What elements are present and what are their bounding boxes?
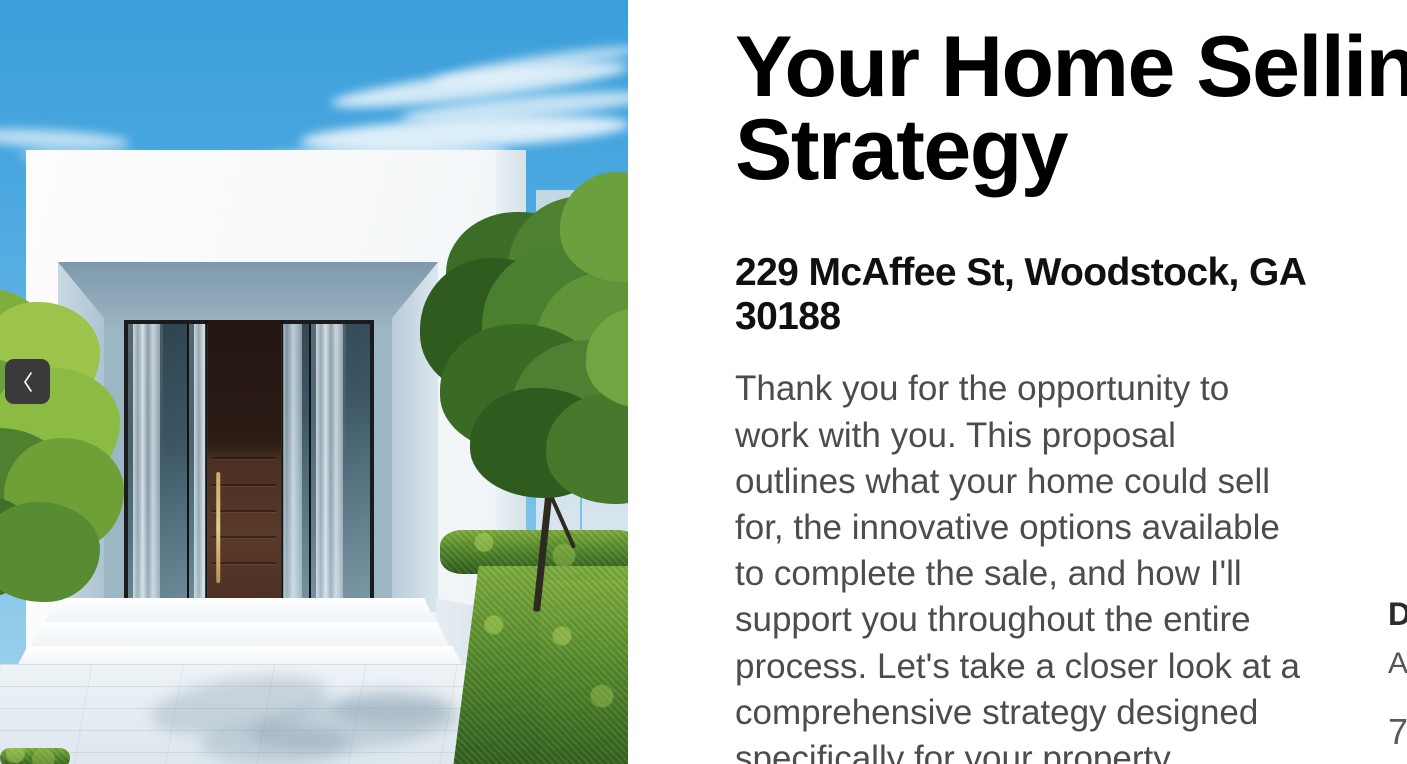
door-panel-seam [212, 562, 277, 564]
content-panel: Your Home Selling Strategy 229 McAffee S… [628, 0, 1407, 764]
page-title-line-2: Strategy [735, 109, 1407, 192]
hero-image-panel [0, 0, 628, 764]
door-panel-seam [212, 484, 277, 486]
door-panel-seam [212, 536, 277, 538]
side-card-value: 7 [1388, 711, 1407, 753]
page-title: Your Home Selling Strategy [735, 26, 1407, 191]
door-handle [216, 472, 220, 583]
front-door [205, 320, 283, 612]
door-panel-seam [212, 457, 277, 459]
entry-step [44, 598, 436, 624]
presentation-slide: Your Home Selling Strategy 229 McAffee S… [0, 0, 1407, 764]
side-card-subtitle: A [1388, 647, 1407, 681]
side-stat-card: D A 7 [1388, 596, 1407, 753]
carousel-prev-button[interactable] [5, 359, 50, 404]
intro-paragraph: Thank you for the opportunity to work wi… [735, 366, 1305, 764]
property-address: 229 McAffee St, Woodstock, GA 30188 [735, 251, 1335, 338]
chevron-left-icon [21, 371, 35, 393]
tree-left [0, 288, 140, 588]
entry-glass-wall [124, 320, 374, 612]
content-body: Your Home Selling Strategy 229 McAffee S… [735, 0, 1407, 764]
door-panel-seam [212, 510, 277, 512]
side-card-title: D [1388, 596, 1407, 633]
tree-shadow [330, 690, 450, 726]
tree-shadow [200, 724, 350, 764]
page-title-line-1: Your Home Selling [735, 19, 1407, 115]
tree-right [436, 212, 628, 632]
entry-step [30, 622, 450, 648]
hedge-row [0, 748, 70, 764]
glass-pane [311, 324, 370, 608]
glass-reflection [311, 324, 346, 608]
